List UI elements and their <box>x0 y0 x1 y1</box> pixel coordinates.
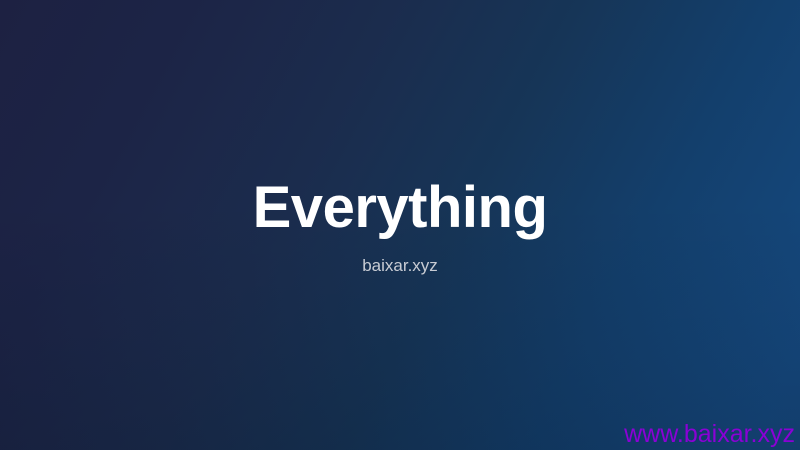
site-watermark: www.baixar.xyz <box>624 420 795 448</box>
hero-text-block: Everything baixar.xyz <box>0 176 800 276</box>
site-subtitle: baixar.xyz <box>0 256 800 276</box>
video-title-card: Everything baixar.xyz www.baixar.xyz <box>0 0 800 450</box>
page-title: Everything <box>0 176 800 240</box>
